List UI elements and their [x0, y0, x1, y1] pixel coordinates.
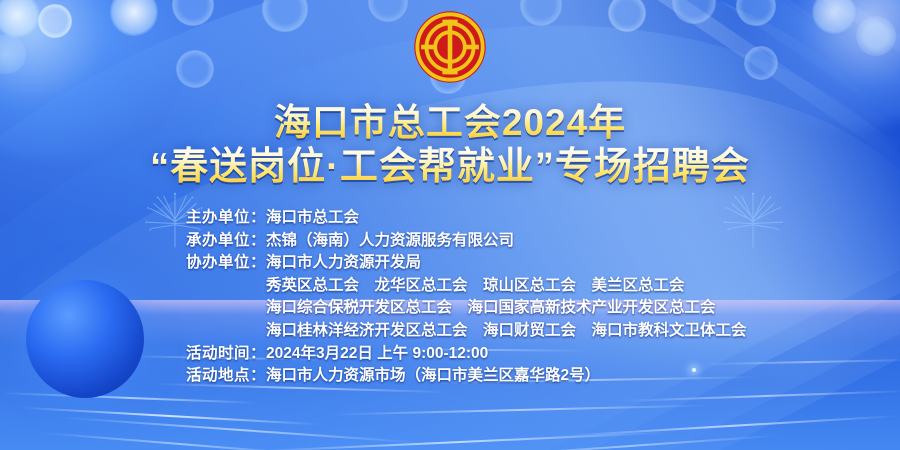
info-row-organizer: 主办单位：海口市总工会 [186, 207, 747, 230]
info-value: 海口市人力资源开发局 [266, 254, 421, 271]
glowing-sphere [26, 280, 144, 398]
title-line-2: “春送岗位·工会帮就业”专场招聘会 [0, 145, 900, 190]
info-row-coorganizer: 协办单位：海口市人力资源开发局 [186, 252, 747, 275]
info-value: 秀英区总工会 龙华区总工会 琼山区总工会 美兰区总工会 [266, 277, 685, 294]
info-row-event-location: 活动地点：海口市人力资源市场（海口市美兰区嘉华路2号） [186, 365, 747, 388]
info-label: 协办单位： [186, 254, 266, 271]
info-row-coorganizer-list-3: 海口桂林洋经济开发区总工会 海口财贸工会 海口市教科文卫体工会 [186, 320, 747, 343]
info-row-coorganizer-list-1: 秀英区总工会 龙华区总工会 琼山区总工会 美兰区总工会 [186, 275, 747, 298]
info-value: 海口综合保税开发区总工会 海口国家高新技术产业开发区总工会 [266, 299, 716, 316]
info-label: 主办单位： [186, 209, 266, 226]
info-label: 活动地点： [186, 367, 266, 384]
acftu-union-emblem-icon [412, 9, 488, 85]
info-value: 杰锦（海南）人力资源服务有限公司 [266, 232, 514, 249]
info-value: 海口市总工会 [266, 209, 359, 226]
info-value: 海口桂林洋经济开发区总工会 海口财贸工会 海口市教科文卫体工会 [266, 322, 747, 339]
recruitment-poster: 海口市总工会2024年 “春送岗位·工会帮就业”专场招聘会 主办单位：海口市总工… [0, 0, 900, 450]
info-label: 活动时间： [186, 345, 266, 362]
event-info-block: 主办单位：海口市总工会 承办单位：杰锦（海南）人力资源服务有限公司 协办单位：海… [186, 207, 747, 388]
info-row-undertaker: 承办单位：杰锦（海南）人力资源服务有限公司 [186, 230, 747, 253]
title-line-1: 海口市总工会2024年 [0, 100, 900, 145]
info-label: 承办单位： [186, 232, 266, 249]
info-row-event-time: 活动时间：2024年3月22日 上午 9:00-12:00 [186, 343, 747, 366]
info-value: 2024年3月22日 上午 9:00-12:00 [266, 345, 488, 362]
info-value: 海口市人力资源市场（海口市美兰区嘉华路2号） [266, 367, 600, 384]
poster-title: 海口市总工会2024年 “春送岗位·工会帮就业”专场招聘会 [0, 100, 900, 190]
logo-container [0, 9, 900, 85]
info-row-coorganizer-list-2: 海口综合保税开发区总工会 海口国家高新技术产业开发区总工会 [186, 297, 747, 320]
